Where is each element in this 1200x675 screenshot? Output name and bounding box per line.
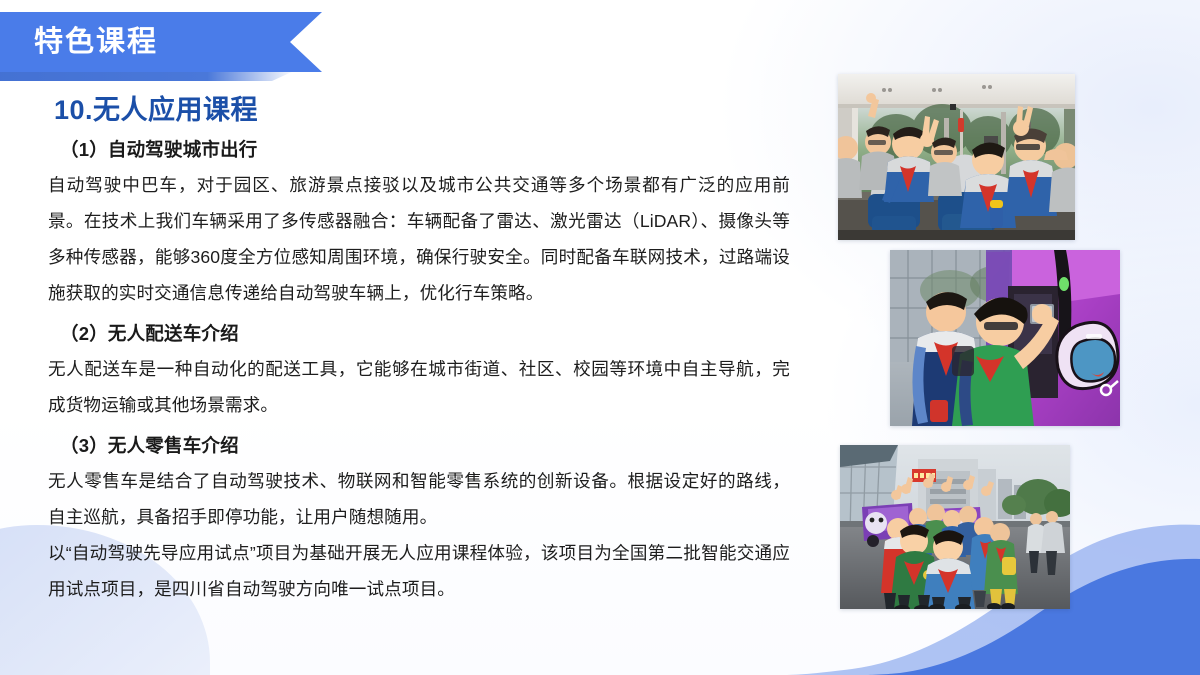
subsection-3-body: 无人零售车是结合了自动驾驶技术、物联网和智能零售系统的创新设备。根据设定好的路线…	[48, 463, 790, 535]
subsection-3-title: （3）无人零售车介绍	[60, 432, 790, 458]
subsection-1-title: （1）自动驾驶城市出行	[60, 136, 790, 162]
content-column: 10.无人应用课程 （1）自动驾驶城市出行 自动驾驶中巴车，对于园区、旅游景点接…	[48, 88, 790, 607]
photo-students-on-autonomous-bus	[838, 74, 1075, 240]
subsection-2-title: （2）无人配送车介绍	[60, 320, 790, 346]
slide-canvas: 特色课程 10.无人应用课程 （1）自动驾驶城市出行 自动驾驶中巴车，对于园区、…	[0, 0, 1200, 675]
section-banner-label: 特色课程	[34, 28, 158, 57]
closing-paragraph: 以“自动驾驶先导应用试点”项目为基础开展无人应用课程体验，该项目为全国第二批智能…	[48, 535, 790, 607]
course-title: 10.无人应用课程	[54, 88, 790, 127]
photo-students-group-with-vehicles	[840, 445, 1070, 609]
photo-students-at-retail-vehicle	[890, 250, 1120, 426]
subsection-1-body: 自动驾驶中巴车，对于园区、旅游景点接驳以及城市公共交通等多个场景都有广泛的应用前…	[48, 167, 790, 311]
subsection-2-body: 无人配送车是一种自动化的配送工具，它能够在城市街道、社区、校园等环境中自主导航，…	[48, 351, 790, 423]
section-banner: 特色课程	[0, 12, 322, 72]
